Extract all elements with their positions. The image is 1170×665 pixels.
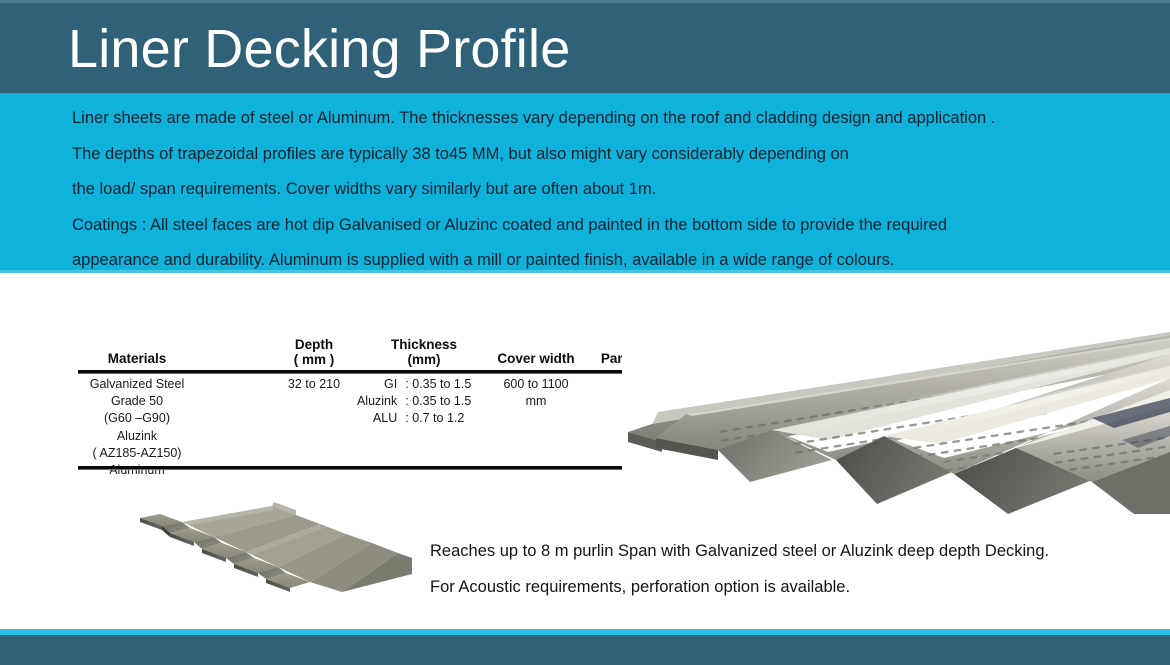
thickness-key: ALU bbox=[340, 410, 405, 427]
column-header-depth-line2: ( mm ) bbox=[258, 353, 370, 368]
column-header-depth-line1: Depth bbox=[258, 338, 370, 353]
liner-profile-photo bbox=[132, 496, 420, 594]
page-title: Liner Decking Profile bbox=[68, 17, 570, 81]
intro-line-3: the load/ span requirements. Cover width… bbox=[72, 172, 1112, 208]
footer-bar bbox=[0, 635, 1170, 665]
column-header-thickness-line2: (mm) bbox=[356, 353, 492, 368]
thickness-key: Aluzink bbox=[340, 393, 405, 410]
spec-table: Materials Depth ( mm ) Thickness (mm) Co… bbox=[78, 336, 622, 472]
table-header-rule bbox=[78, 370, 622, 374]
caption-line-1: Reaches up to 8 m purlin Span with Galva… bbox=[430, 533, 1150, 569]
cell-materials: Galvanized Steel Grade 50 (G60 –G90) Alu… bbox=[78, 376, 196, 479]
table-bottom-rule bbox=[78, 466, 622, 470]
bottom-caption: Reaches up to 8 m purlin Span with Galva… bbox=[430, 533, 1150, 605]
thickness-value: : 0.7 to 1.2 bbox=[405, 410, 500, 427]
column-header-depth: Depth ( mm ) bbox=[258, 338, 370, 367]
column-header-materials: Materials bbox=[78, 352, 196, 367]
column-header-cover-width: Cover width bbox=[476, 352, 596, 367]
intro-line-5: appearance and durability. Aluminum is s… bbox=[72, 243, 1112, 279]
decking-panel-photo bbox=[622, 332, 1170, 514]
caption-line-2: For Acoustic requirements, perforation o… bbox=[430, 569, 1150, 605]
column-header-thickness: Thickness (mm) bbox=[356, 338, 492, 367]
thickness-row: ALU : 0.7 to 1.2 bbox=[340, 410, 500, 427]
intro-paragraph: Liner sheets are made of steel or Alumin… bbox=[72, 101, 1112, 279]
intro-line-4: Coatings : All steel faces are hot dip G… bbox=[72, 208, 1112, 244]
thickness-key: GI bbox=[340, 376, 405, 393]
cell-cover-width: 600 to 1100 mm bbox=[476, 376, 596, 410]
column-header-thickness-line1: Thickness bbox=[356, 338, 492, 353]
slide-root: Liner Decking Profile Liner sheets are m… bbox=[0, 0, 1170, 665]
intro-line-2: The depths of trapezoidal profiles are t… bbox=[72, 137, 1112, 173]
intro-line-1: Liner sheets are made of steel or Alumin… bbox=[72, 101, 1112, 137]
